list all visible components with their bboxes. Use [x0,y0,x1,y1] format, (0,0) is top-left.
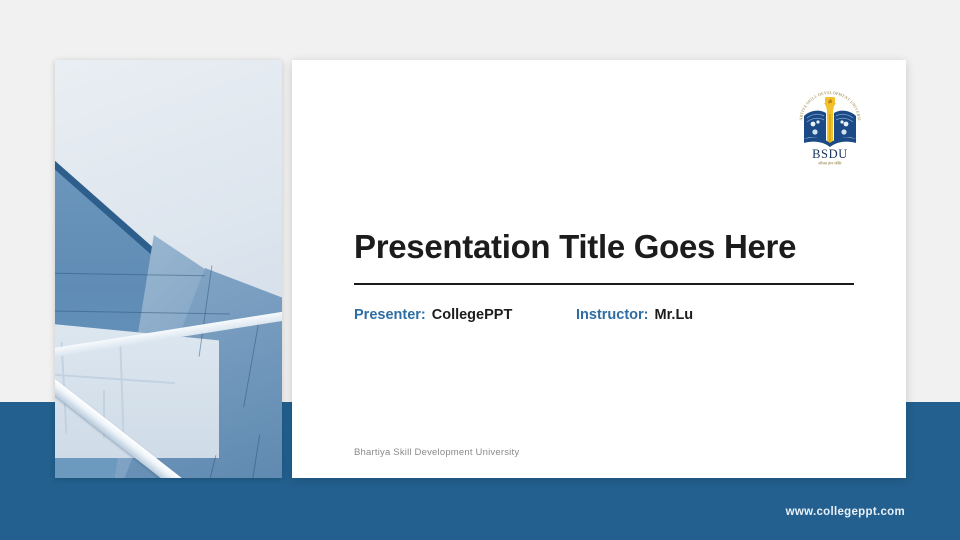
instructor-field: Instructor: Mr.Lu [576,307,693,323]
watermark-url: www.collegeppt.com [786,506,905,518]
presenter-field: Presenter: CollegePPT [354,307,576,323]
slide-stage: www.collegeppt.com BHARTIYA S [0,0,960,540]
title-block: Presentation Title Goes Here [354,228,854,285]
svg-text:BSDU: BSDU [812,147,848,161]
meta-row: Presenter: CollegePPT Instructor: Mr.Lu [354,307,693,323]
presenter-value: CollegePPT [432,307,513,323]
instructor-label: Instructor: [576,307,649,323]
architecture-photo [55,60,282,478]
svg-text:ॐ: ॐ [828,99,833,106]
svg-text:कौशल ज्ञान शक्ति: कौशल ज्ञान शक्ति [819,161,843,166]
page-title: Presentation Title Goes Here [354,228,854,266]
slide-content-card: BHARTIYA SKILL DEVELOPMENT UNIVERSITY ॐ [292,60,906,478]
instructor-value: Mr.Lu [655,307,694,323]
card-footer-text: Bhartiya Skill Development University [354,447,519,458]
bsdu-logo-icon: BHARTIYA SKILL DEVELOPMENT UNIVERSITY ॐ [794,86,866,166]
presenter-label: Presenter: [354,307,426,323]
title-divider [354,283,854,285]
